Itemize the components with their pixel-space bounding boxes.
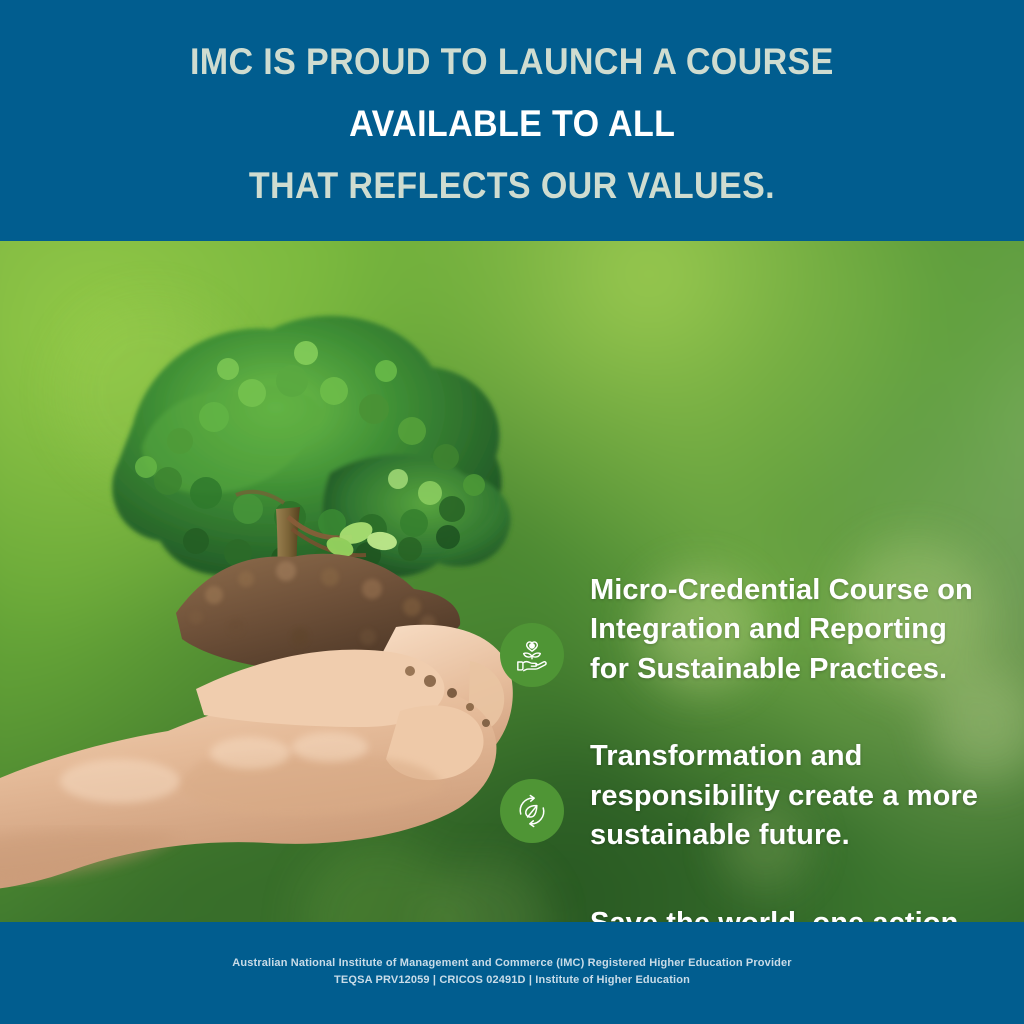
feature-text: Save the world, one action at a time! [590, 904, 990, 922]
feature-list: Micro-Credential Course on Integration a… [500, 571, 1000, 922]
hand-heart-leaf-icon [500, 623, 564, 687]
left-hand-and-forearm [0, 650, 496, 891]
hand-heart-leaf-glyph [512, 635, 552, 675]
footer-line-1: Australian National Institute of Managem… [232, 955, 791, 972]
headline-line-1: IMC IS PROUD TO LAUNCH A COURSE [190, 39, 834, 84]
promotional-poster: IMC IS PROUD TO LAUNCH A COURSE AVAILABL… [0, 0, 1024, 1024]
feature-item-transformation: Transformation and responsibility create… [500, 737, 1000, 855]
recycle-leaf-glyph [512, 791, 552, 831]
photo-panel: Micro-Credential Course on Integration a… [0, 241, 1024, 922]
footer-line-2: TEQSA PRV12059 | CRICOS 02491D | Institu… [334, 972, 690, 989]
feature-item-micro-credential: Micro-Credential Course on Integration a… [500, 571, 1000, 689]
footer-band: Australian National Institute of Managem… [0, 922, 1024, 1024]
feature-text: Micro-Credential Course on Integration a… [590, 571, 990, 689]
feature-item-save-the-world: Save the world, one action at a time! [500, 904, 1000, 922]
recycle-leaf-icon [500, 779, 564, 843]
hands-holding-plant-image [0, 241, 520, 922]
headline-line-2: AVAILABLE TO ALL [349, 101, 675, 146]
headline-line-3: THAT REFLECTS OUR VALUES. [249, 163, 775, 208]
header-band: IMC IS PROUD TO LAUNCH A COURSE AVAILABL… [0, 0, 1024, 241]
feature-text: Transformation and responsibility create… [590, 737, 990, 855]
hands-holding-plant-illustration [0, 241, 520, 922]
